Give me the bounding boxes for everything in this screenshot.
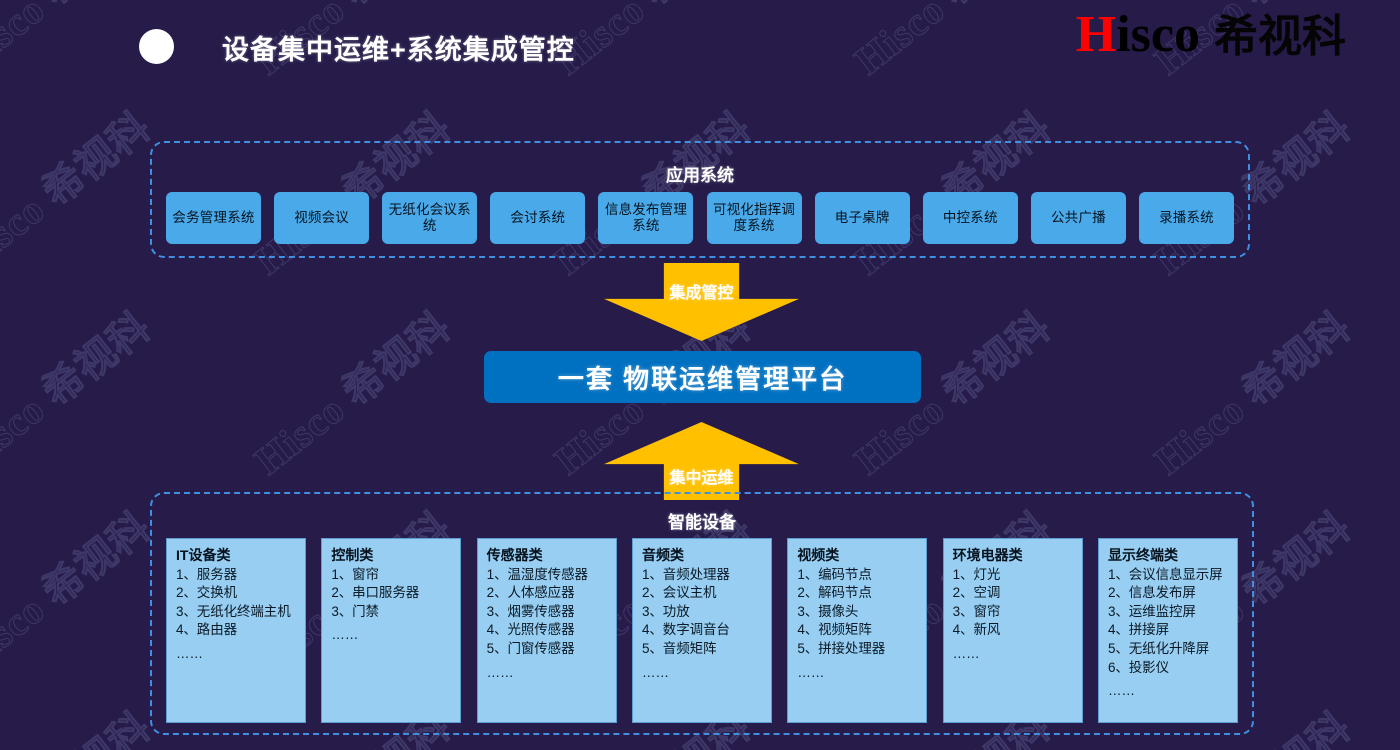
logo-text-chinese: 希视科 [1214,15,1346,59]
watermark-text: Hisco 希视科 [240,296,461,486]
device-list-item: 3、烟雾传感器 [487,603,609,622]
arrow-up-icon: 集中运维 [604,422,799,500]
app-box[interactable]: 会讨系统 [490,192,585,244]
device-list-item: 5、音频矩阵 [642,640,764,659]
device-category-card: 视频类1、编码节点2、解码节点3、摄像头4、视频矩阵5、拼接处理器…… [787,538,927,723]
app-box[interactable]: 会务管理系统 [166,192,261,244]
application-systems-title: 应用系统 [152,161,1248,186]
device-list-ellipsis: …… [1108,682,1230,701]
device-list-item: 2、解码节点 [797,584,919,603]
app-box[interactable]: 公共广播 [1031,192,1126,244]
device-category-title: IT设备类 [176,547,298,565]
device-list-item: 5、拼接处理器 [797,640,919,659]
device-list-ellipsis: …… [953,645,1075,664]
brand-logo: H isco 希视科 [1076,9,1346,61]
application-systems-row: 会务管理系统 视频会议 无纸化会议系统 会讨系统 信息发布管理系统 可视化指挥调… [166,192,1234,244]
arrow-down-label: 集成管控 [604,279,799,303]
smart-devices-panel: 智能设备 IT设备类1、服务器2、交换机3、无纸化终端主机4、路由器……控制类1… [150,492,1254,735]
device-list-item: 3、门禁 [331,603,453,622]
device-list-ellipsis: …… [642,664,764,683]
app-box[interactable]: 视频会议 [274,192,369,244]
device-category-card: 音频类1、音频处理器2、会议主机3、功放4、数字调音台5、音频矩阵…… [632,538,772,723]
device-list-item: 2、人体感应器 [487,584,609,603]
device-list-item: 4、新风 [953,621,1075,640]
device-list-item: 5、门窗传感器 [487,640,609,659]
device-category-title: 音频类 [642,547,764,565]
device-list-item: 4、拼接屏 [1108,621,1230,640]
watermark-text: Hisco 希视科 [1140,296,1361,486]
platform-bar: 一套 物联运维管理平台 [484,351,921,403]
app-box[interactable]: 可视化指挥调度系统 [707,192,802,244]
device-list-item: 2、串口服务器 [331,584,453,603]
device-category-card: 传感器类1、温湿度传感器2、人体感应器3、烟雾传感器4、光照传感器5、门窗传感器… [477,538,617,723]
app-box[interactable]: 信息发布管理系统 [598,192,693,244]
device-list-item: 1、音频处理器 [642,566,764,585]
device-list-item: 1、温湿度传感器 [487,566,609,585]
device-list-item: 4、路由器 [176,621,298,640]
smart-devices-title: 智能设备 [152,508,1252,533]
device-list-item: 4、光照传感器 [487,621,609,640]
device-category-card: IT设备类1、服务器2、交换机3、无纸化终端主机4、路由器…… [166,538,306,723]
app-box[interactable]: 中控系统 [923,192,1018,244]
app-box[interactable]: 无纸化会议系统 [382,192,477,244]
application-systems-panel: 应用系统 会务管理系统 视频会议 无纸化会议系统 会讨系统 信息发布管理系统 可… [150,141,1250,258]
watermark-text: Hisco 希视科 [0,96,161,286]
device-list-item: 5、无纸化升降屏 [1108,640,1230,659]
smart-devices-row: IT设备类1、服务器2、交换机3、无纸化终端主机4、路由器……控制类1、窗帘2、… [166,538,1238,723]
device-list-item: 1、灯光 [953,566,1075,585]
device-list-item: 3、摄像头 [797,603,919,622]
device-category-title: 控制类 [331,547,453,565]
device-list-item: 3、窗帘 [953,603,1075,622]
logo-text-isco: isco [1116,9,1200,61]
logo-letter-h: H [1076,9,1116,61]
device-list-item: 2、空调 [953,584,1075,603]
device-list-item: 6、投影仪 [1108,659,1230,678]
page-header: 设备集中运维+系统集成管控 H isco 希视科 [0,0,1400,100]
device-list-item: 2、交换机 [176,584,298,603]
device-list-ellipsis: …… [487,664,609,683]
arrow-up-label: 集中运维 [604,464,799,488]
device-list-ellipsis: …… [331,626,453,645]
device-category-card: 显示终端类1、会议信息显示屏2、信息发布屏3、运维监控屏4、拼接屏5、无纸化升降… [1098,538,1238,723]
device-list-ellipsis: …… [176,645,298,664]
watermark-text: Hisco 希视科 [0,296,161,486]
watermark-text: Hisco 希视科 [0,496,161,686]
device-list-item: 3、功放 [642,603,764,622]
device-list-item: 1、编码节点 [797,566,919,585]
arrow-down-icon: 集成管控 [604,263,799,341]
device-list-item: 1、服务器 [176,566,298,585]
device-category-title: 传感器类 [487,547,609,565]
device-list-item: 2、会议主机 [642,584,764,603]
device-category-title: 显示终端类 [1108,547,1230,565]
device-list-item: 3、无纸化终端主机 [176,603,298,622]
circle-bullet-icon [139,29,174,64]
device-list-item: 2、信息发布屏 [1108,584,1230,603]
app-box[interactable]: 电子桌牌 [815,192,910,244]
device-list-item: 4、数字调音台 [642,621,764,640]
device-list-item: 4、视频矩阵 [797,621,919,640]
app-box[interactable]: 录播系统 [1139,192,1234,244]
device-category-title: 视频类 [797,547,919,565]
device-category-title: 环境电器类 [953,547,1075,565]
device-list-ellipsis: …… [797,664,919,683]
page-title: 设备集中运维+系统集成管控 [222,28,575,67]
device-list-item: 1、窗帘 [331,566,453,585]
device-list-item: 1、会议信息显示屏 [1108,566,1230,585]
device-list-item: 3、运维监控屏 [1108,603,1230,622]
device-category-card: 环境电器类1、灯光2、空调3、窗帘4、新风…… [943,538,1083,723]
watermark-text: Hisco 希视科 [0,696,161,750]
arrow-up-shape [604,422,799,500]
device-category-card: 控制类1、窗帘2、串口服务器3、门禁…… [321,538,461,723]
